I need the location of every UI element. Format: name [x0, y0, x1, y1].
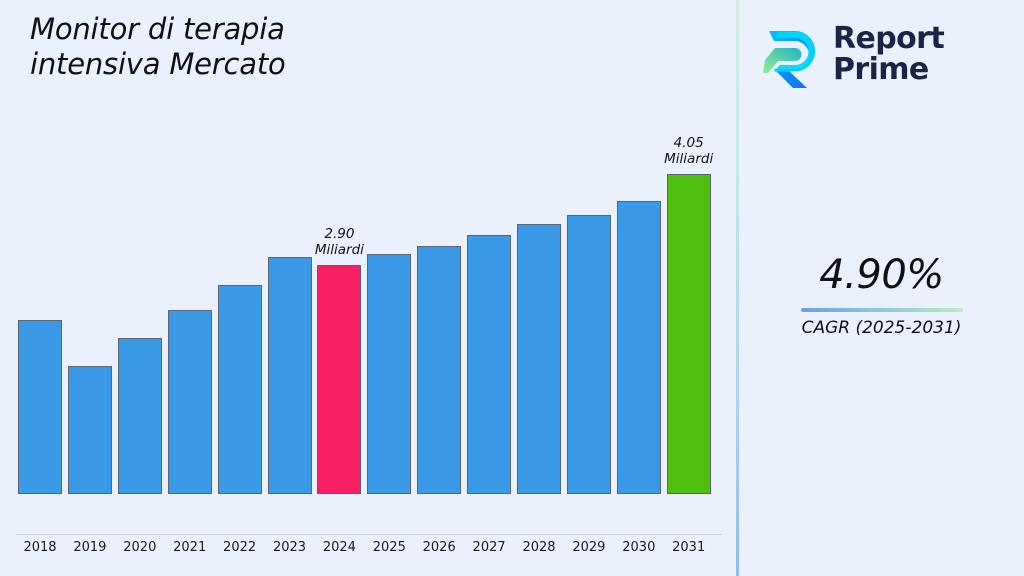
bar-rect-2020[interactable] [118, 338, 162, 494]
chart-panel: Monitor di terapia intensiva Mercato 201… [0, 0, 737, 576]
bar-rect-2023[interactable] [268, 257, 312, 494]
bar-2022[interactable] [218, 285, 262, 494]
bar-rect-2025[interactable] [367, 254, 411, 494]
x-tick-2031: 2031 [659, 540, 719, 555]
cagr-divider-rule [801, 308, 963, 312]
bar-2019[interactable] [68, 366, 112, 494]
cagr-block: 4.90% CAGR (2025-2031) [739, 252, 1024, 338]
bar-2031[interactable]: 4.05 Miliardi [667, 174, 711, 494]
bar-2026[interactable] [417, 246, 461, 494]
bar-rect-2022[interactable] [218, 285, 262, 494]
bar-2024[interactable]: 2.90 Miliardi [317, 265, 361, 494]
bar-rect-2030[interactable] [617, 201, 661, 494]
bar-rect-2019[interactable] [68, 366, 112, 494]
side-panel: Report Prime 4.90% CAGR (2025-2031) [739, 0, 1024, 576]
bar-rect-2026[interactable] [417, 246, 461, 494]
bar-rect-2018[interactable] [18, 320, 62, 494]
bar-2025[interactable] [367, 254, 411, 494]
x-axis-line [16, 534, 722, 535]
bar-value-label-2031: 4.05 Miliardi [634, 135, 744, 168]
brand-name: Report Prime [833, 23, 944, 86]
bar-2020[interactable] [118, 338, 162, 494]
bar-rect-2031[interactable] [667, 174, 711, 494]
bar-rect-2024[interactable] [317, 265, 361, 494]
brand-logo: Report Prime [755, 14, 1007, 94]
bar-2021[interactable] [168, 310, 212, 494]
cagr-caption: CAGR (2025-2031) [739, 318, 1024, 338]
report-prime-r-logo-icon [755, 20, 823, 88]
bar-rect-2029[interactable] [567, 215, 611, 494]
bar-2030[interactable] [617, 201, 661, 494]
bar-2029[interactable] [567, 215, 611, 494]
bar-rect-2021[interactable] [168, 310, 212, 494]
bar-2028[interactable] [517, 224, 561, 494]
bar-chart-plot: 2018201920202021202220232.90 Miliardi202… [0, 0, 737, 536]
bar-2018[interactable] [18, 320, 62, 494]
bar-2027[interactable] [467, 235, 511, 494]
bar-2023[interactable] [268, 257, 312, 494]
bar-rect-2027[interactable] [467, 235, 511, 494]
bar-rect-2028[interactable] [517, 224, 561, 494]
cagr-value: 4.90% [739, 252, 1024, 298]
